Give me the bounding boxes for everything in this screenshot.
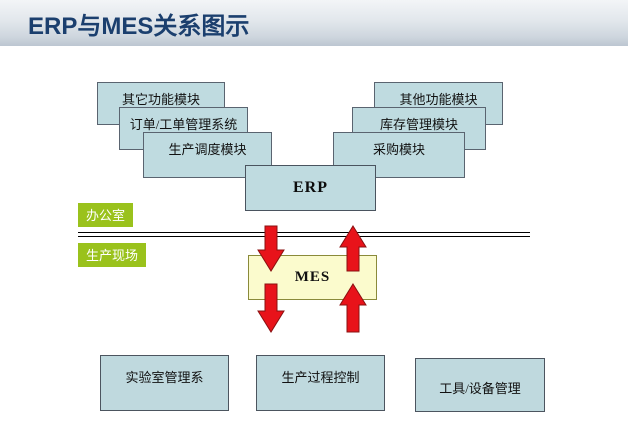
zone-divider-line-lower (78, 236, 530, 237)
arrow-down-erp-to-mes-icon (258, 226, 284, 271)
zone-label-shopfloor: 生产现场 (78, 243, 146, 267)
bottom-box-production-process-control[interactable]: 生产过程控制 (256, 355, 385, 411)
right-module-label-3: 采购模块 (334, 139, 464, 158)
bottom-box-label-3: 工具/设备管理 (416, 378, 544, 397)
zone-shopfloor-text: 生产现场 (86, 248, 138, 263)
erp-box[interactable]: ERP (245, 165, 376, 211)
zone-divider-line-upper (78, 232, 530, 233)
bottom-box-tool-equipment-management[interactable]: 工具/设备管理 (415, 358, 545, 412)
right-module-label-2: 库存管理模块 (353, 114, 485, 133)
bottom-box-laboratory-management[interactable]: 实验室管理系 (100, 355, 229, 411)
left-module-label-1: 其它功能模块 (98, 89, 224, 108)
zone-office-text: 办公室 (86, 208, 125, 223)
arrow-down-mes-to-floor-icon (258, 284, 284, 332)
page-header: ERP与MES关系图示 (0, 0, 628, 47)
mes-label: MES (295, 269, 331, 286)
bottom-box-label-2: 生产过程控制 (257, 367, 384, 386)
left-module-label-2: 订单/工单管理系统 (120, 114, 247, 133)
erp-label: ERP (293, 179, 328, 197)
left-module-label-3: 生产调度模块 (144, 139, 271, 158)
arrow-up-floor-to-mes-icon (340, 284, 366, 332)
page-title: ERP与MES关系图示 (28, 6, 249, 41)
arrow-up-mes-to-erp-icon (340, 226, 366, 271)
right-module-label-1: 其他功能模块 (375, 89, 502, 108)
diagram-canvas: 其它功能模块 订单/工单管理系统 生产调度模块 其他功能模块 库存管理模块 采购… (0, 46, 628, 431)
zone-label-office: 办公室 (78, 203, 133, 227)
bottom-box-label-1: 实验室管理系 (101, 367, 228, 386)
